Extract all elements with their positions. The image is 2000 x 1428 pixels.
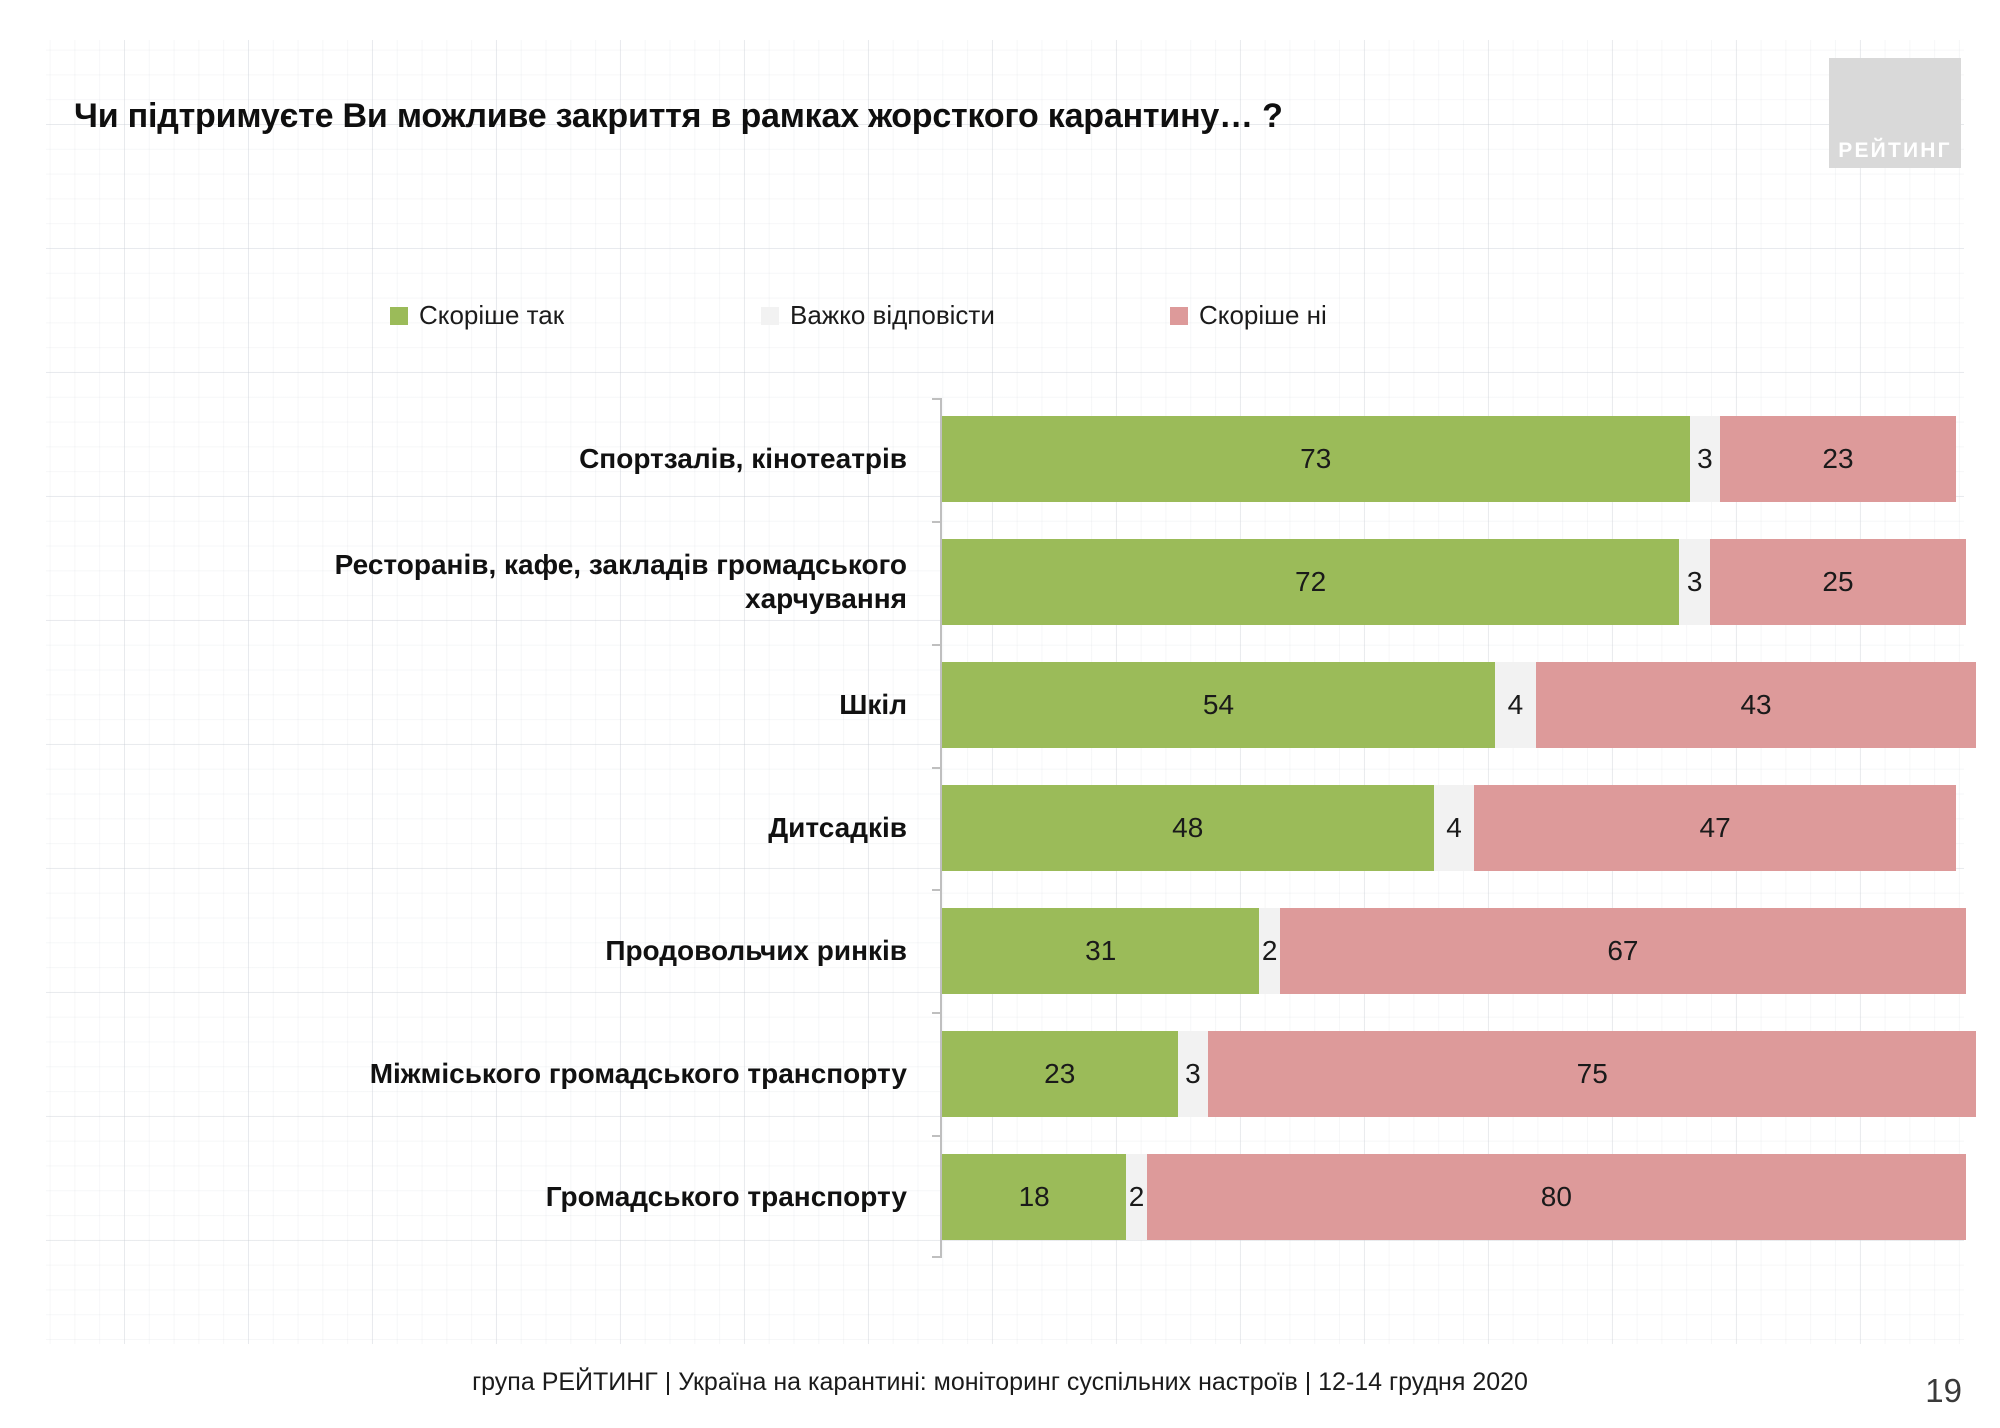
bar-segment-yes[interactable]: 18 xyxy=(942,1154,1126,1240)
bar-segment-no[interactable]: 47 xyxy=(1474,785,1955,871)
legend-label: Скоріше так xyxy=(419,300,564,331)
slide-margin-top xyxy=(0,0,2000,40)
bar-value-label: 80 xyxy=(1541,1183,1572,1211)
legend-swatch-icon xyxy=(1170,307,1188,325)
bar-value-label: 2 xyxy=(1262,937,1278,965)
bar-value-label: 3 xyxy=(1185,1060,1201,1088)
bar-segment-yes[interactable]: 31 xyxy=(942,908,1259,994)
bar-segment-yes[interactable]: 54 xyxy=(942,662,1495,748)
bar-segment-no[interactable]: 23 xyxy=(1720,416,1956,502)
legend-label: Важко відповісти xyxy=(790,300,995,331)
page-number: 19 xyxy=(1925,1372,1962,1410)
bar-value-label: 4 xyxy=(1446,814,1462,842)
bar-value-label: 3 xyxy=(1687,568,1703,596)
legend-swatch-icon xyxy=(390,307,408,325)
bar-value-label: 75 xyxy=(1577,1060,1608,1088)
bar-value-label: 23 xyxy=(1044,1060,1075,1088)
bar-value-label: 3 xyxy=(1697,445,1713,473)
category-label: Спортзалів, кінотеатрів xyxy=(187,442,907,476)
bar-value-label: 54 xyxy=(1203,691,1234,719)
bar-segment-hard[interactable]: 4 xyxy=(1434,785,1475,871)
bar-segment-hard[interactable]: 3 xyxy=(1679,539,1710,625)
bar-value-label: 67 xyxy=(1607,937,1638,965)
bar-value-label: 48 xyxy=(1172,814,1203,842)
bar-value-label: 4 xyxy=(1508,691,1524,719)
bar-segment-no[interactable]: 43 xyxy=(1536,662,1976,748)
legend-label: Скоріше ні xyxy=(1199,300,1327,331)
slide-margin-left xyxy=(0,0,46,1428)
bar-value-label: 2 xyxy=(1129,1183,1145,1211)
bar-segment-yes[interactable]: 23 xyxy=(942,1031,1178,1117)
bar-value-label: 72 xyxy=(1295,568,1326,596)
bar-segment-hard[interactable]: 3 xyxy=(1178,1031,1209,1117)
category-label: Шкіл xyxy=(187,688,907,722)
bar-segment-hard[interactable]: 4 xyxy=(1495,662,1536,748)
bar-segment-no[interactable]: 75 xyxy=(1208,1031,1976,1117)
bar-value-label: 73 xyxy=(1300,445,1331,473)
category-label: Ресторанів, кафе, закладів громадського … xyxy=(187,548,907,616)
slide-footer: група РЕЙТИНГ | Україна на карантині: мо… xyxy=(0,1368,2000,1397)
axis-tick xyxy=(932,398,940,400)
chart-bar-row[interactable]: 54443 xyxy=(942,662,1964,748)
category-label: Продовольчих ринків xyxy=(187,934,907,968)
axis-tick xyxy=(932,1012,940,1014)
bar-value-label: 47 xyxy=(1700,814,1731,842)
bar-segment-no[interactable]: 25 xyxy=(1710,539,1966,625)
category-label: Міжміського громадського транспорту xyxy=(187,1057,907,1091)
axis-tick xyxy=(932,1256,940,1258)
bar-value-label: 25 xyxy=(1822,568,1853,596)
axis-tick xyxy=(932,767,940,769)
chart-legend: Скоріше такВажко відповістиСкоріше ні xyxy=(390,300,1700,334)
chart-bar-row[interactable]: 31267 xyxy=(942,908,1964,994)
bar-segment-hard[interactable]: 2 xyxy=(1126,1154,1146,1240)
bar-segment-hard[interactable]: 3 xyxy=(1690,416,1721,502)
rating-logo: РЕЙТИНГ xyxy=(1829,58,1961,168)
legend-item[interactable]: Скоріше так xyxy=(390,300,564,331)
chart-plot-area: 73323723255444348447312672337518280 xyxy=(940,398,1964,1258)
bar-segment-no[interactable]: 67 xyxy=(1280,908,1966,994)
chart-bar-row[interactable]: 73323 xyxy=(942,416,1964,502)
bar-segment-yes[interactable]: 73 xyxy=(942,416,1690,502)
legend-swatch-icon xyxy=(761,307,779,325)
bar-segment-hard[interactable]: 2 xyxy=(1259,908,1279,994)
page-title: Чи підтримуєте Ви можливе закриття в рам… xyxy=(74,97,1283,136)
chart-bar-row[interactable]: 48447 xyxy=(942,785,1964,871)
category-label: Дитсадків xyxy=(187,811,907,845)
bar-value-label: 43 xyxy=(1740,691,1771,719)
axis-tick xyxy=(932,521,940,523)
axis-tick xyxy=(932,1135,940,1137)
bar-value-label: 23 xyxy=(1822,445,1853,473)
bar-value-label: 31 xyxy=(1085,937,1116,965)
bar-segment-yes[interactable]: 48 xyxy=(942,785,1434,871)
chart-bar-row[interactable]: 23375 xyxy=(942,1031,1964,1117)
slide-canvas: РЕЙТИНГ Чи підтримуєте Ви можливе закрит… xyxy=(0,0,2000,1428)
category-axis-labels: Спортзалів, кінотеатрівРесторанів, кафе,… xyxy=(180,398,925,1258)
bar-segment-yes[interactable]: 72 xyxy=(942,539,1679,625)
chart-bar-row[interactable]: 72325 xyxy=(942,539,1964,625)
chart-bar-row[interactable]: 18280 xyxy=(942,1154,1964,1240)
legend-item[interactable]: Скоріше ні xyxy=(1170,300,1327,331)
bar-value-label: 18 xyxy=(1019,1183,1050,1211)
category-label: Громадського транспорту xyxy=(187,1180,907,1214)
bar-segment-no[interactable]: 80 xyxy=(1147,1154,1966,1240)
axis-tick xyxy=(932,644,940,646)
axis-tick xyxy=(932,889,940,891)
legend-item[interactable]: Важко відповісти xyxy=(761,300,995,331)
rating-logo-text: РЕЙТИНГ xyxy=(1838,139,1952,163)
